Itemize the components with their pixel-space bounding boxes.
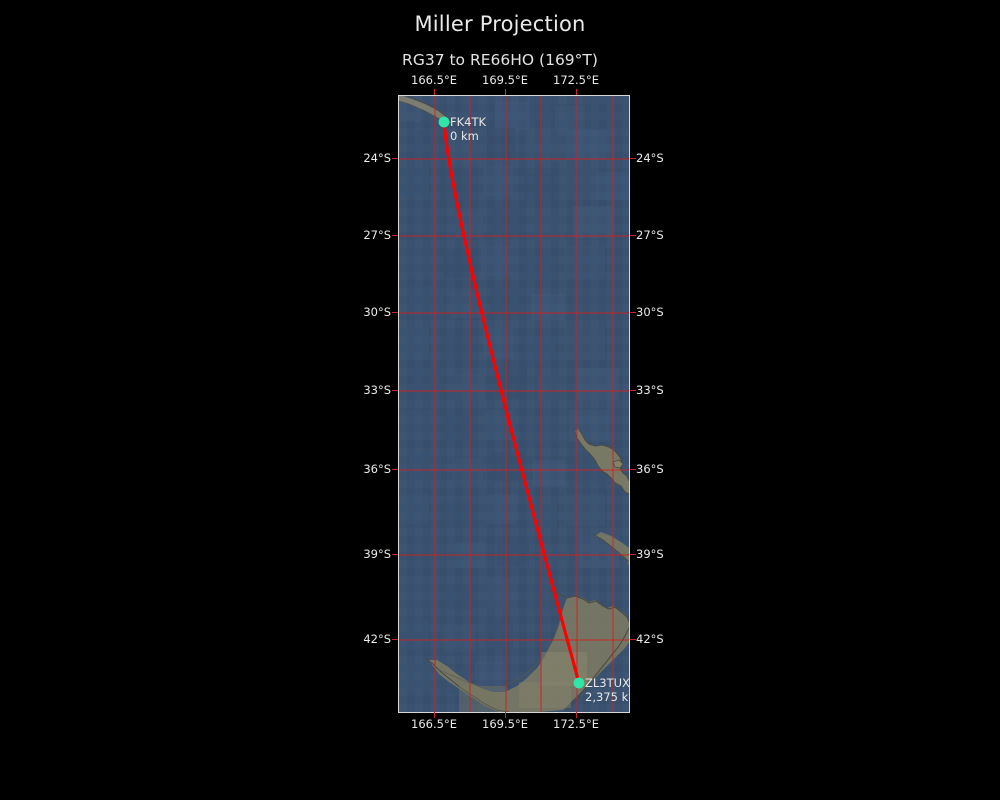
tick-mark-bottom-2 (576, 712, 577, 718)
tick-mark-right-0 (630, 158, 636, 159)
left-lat-tick-3: 33°S (363, 383, 391, 397)
left-lat-tick-0: 24°S (363, 151, 391, 165)
map-plot-area[interactable]: FK4TK 0 km ZL3TUX 2,375 km (398, 95, 630, 713)
right-lat-tick-5: 39°S (636, 547, 664, 561)
marker-end-dot[interactable] (574, 678, 585, 689)
right-lat-tick-6: 42°S (636, 632, 664, 646)
marker-start-dot[interactable] (439, 117, 450, 128)
map-layers: FK4TK 0 km ZL3TUX 2,375 km (399, 96, 629, 712)
right-lat-tick-1: 27°S (636, 228, 664, 242)
tick-mark-right-6 (630, 639, 636, 640)
map-figure: Miller Projection RG37 to RE66HO (169°T)… (0, 0, 1000, 800)
bottom-lon-tick-1: 169.5°E (482, 717, 528, 731)
top-lon-tick-2: 172.5°E (553, 73, 599, 87)
tick-mark-right-2 (630, 312, 636, 313)
right-lat-tick-4: 36°S (636, 462, 664, 476)
tick-mark-top-2 (576, 89, 577, 95)
tick-mark-bottom-1 (505, 712, 506, 718)
marker-start-callsign: FK4TK (450, 115, 486, 129)
tick-mark-left-2 (392, 312, 398, 313)
tick-mark-right-3 (630, 390, 636, 391)
right-lat-tick-0: 24°S (636, 151, 664, 165)
tick-mark-right-1 (630, 235, 636, 236)
left-lat-tick-5: 39°S (363, 547, 391, 561)
marker-end-distance: 2,375 km (585, 690, 629, 704)
tick-mark-left-4 (392, 469, 398, 470)
top-lon-tick-1: 169.5°E (482, 73, 528, 87)
left-lat-tick-1: 27°S (363, 228, 391, 242)
right-lat-tick-2: 30°S (636, 305, 664, 319)
left-lat-tick-4: 36°S (363, 462, 391, 476)
marker-start-distance: 0 km (450, 129, 479, 143)
top-lon-tick-0: 166.5°E (411, 73, 457, 87)
tick-mark-right-4 (630, 469, 636, 470)
figure-subtitle: RG37 to RE66HO (169°T) (0, 51, 1000, 69)
map-canvas: FK4TK 0 km ZL3TUX 2,375 km (399, 96, 629, 712)
tick-mark-left-1 (392, 235, 398, 236)
bottom-lon-tick-2: 172.5°E (553, 717, 599, 731)
tick-mark-right-5 (630, 554, 636, 555)
left-lat-tick-2: 30°S (363, 305, 391, 319)
tick-mark-left-6 (392, 639, 398, 640)
bottom-lon-tick-0: 166.5°E (411, 717, 457, 731)
tick-mark-top-1 (505, 89, 506, 95)
tick-mark-left-5 (392, 554, 398, 555)
tick-mark-bottom-0 (434, 712, 435, 718)
page-title: Miller Projection (0, 12, 1000, 36)
marker-end-callsign: ZL3TUX (585, 676, 629, 690)
tick-mark-left-3 (392, 390, 398, 391)
right-lat-tick-3: 33°S (636, 383, 664, 397)
tick-mark-left-0 (392, 158, 398, 159)
left-lat-tick-6: 42°S (363, 632, 391, 646)
tick-mark-top-0 (434, 89, 435, 95)
